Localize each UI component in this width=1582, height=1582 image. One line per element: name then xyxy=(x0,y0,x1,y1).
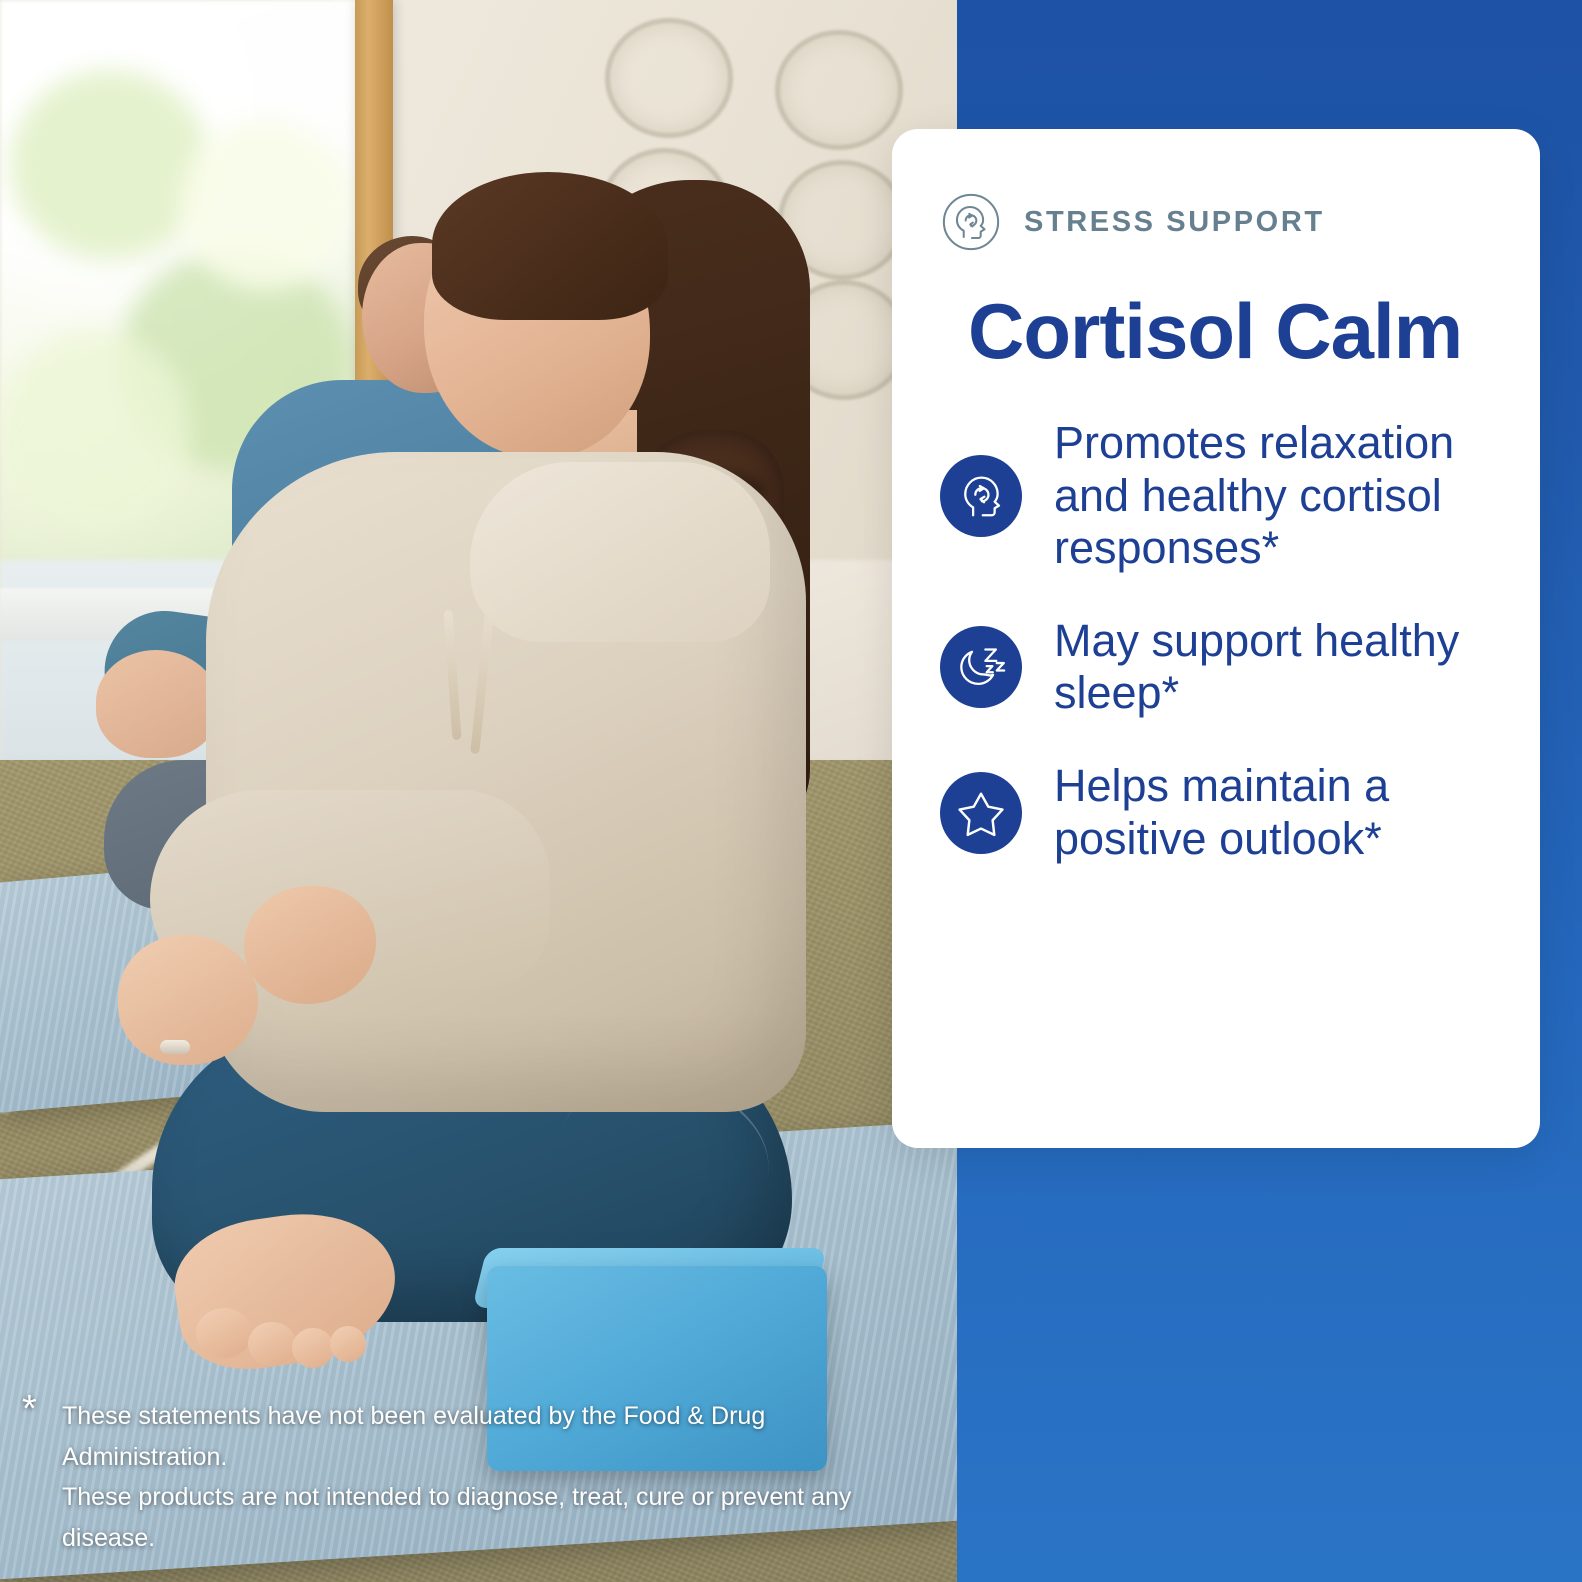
head-refresh-icon xyxy=(940,455,1022,537)
foliage-blob xyxy=(10,70,210,260)
woman-toe xyxy=(292,1328,334,1368)
head-refresh-outline-icon xyxy=(940,191,1002,253)
category-eyebrow: STRESS SUPPORT xyxy=(940,191,1500,253)
benefit-text: Promotes relaxation and healthy cortisol… xyxy=(1054,417,1500,575)
benefit-text: Helps maintain a positive outlook* xyxy=(1054,760,1500,865)
benefit-item: Helps maintain a positive outlook* xyxy=(940,760,1500,865)
category-label: STRESS SUPPORT xyxy=(1024,206,1325,239)
woman-toe xyxy=(248,1322,296,1366)
man-hand xyxy=(96,650,220,758)
lifestyle-photo xyxy=(0,0,957,1582)
benefit-item: Promotes relaxation and healthy cortisol… xyxy=(940,417,1500,575)
woman-hair-top xyxy=(432,172,668,320)
product-info-card: STRESS SUPPORT Cortisol Calm Promotes re… xyxy=(892,129,1540,1148)
fda-disclaimer: * These statements have not been evaluat… xyxy=(22,1396,932,1558)
wall-decor-circle xyxy=(605,18,733,138)
disclaimer-asterisk: * xyxy=(22,1390,37,1428)
wall-decor-circle xyxy=(775,30,903,150)
woman-ring xyxy=(160,1040,190,1054)
hoodie-hood xyxy=(470,462,770,642)
disclaimer-line-1: These statements have not been evaluated… xyxy=(62,1396,932,1477)
promo-image: STRESS SUPPORT Cortisol Calm Promotes re… xyxy=(0,0,1582,1582)
page-title: Cortisol Calm xyxy=(968,291,1500,373)
benefit-item: May support healthy sleep* xyxy=(940,615,1500,720)
benefit-text: May support healthy sleep* xyxy=(1054,615,1500,720)
woman-toe xyxy=(330,1326,366,1362)
foliage-blob xyxy=(180,120,350,290)
star-icon xyxy=(940,772,1022,854)
benefits-list: Promotes relaxation and healthy cortisol… xyxy=(940,417,1500,865)
moon-zzz-icon xyxy=(940,626,1022,708)
disclaimer-line-2: These products are not intended to diagn… xyxy=(62,1477,932,1558)
woman-toe xyxy=(196,1308,252,1358)
foliage-blob xyxy=(0,330,190,530)
